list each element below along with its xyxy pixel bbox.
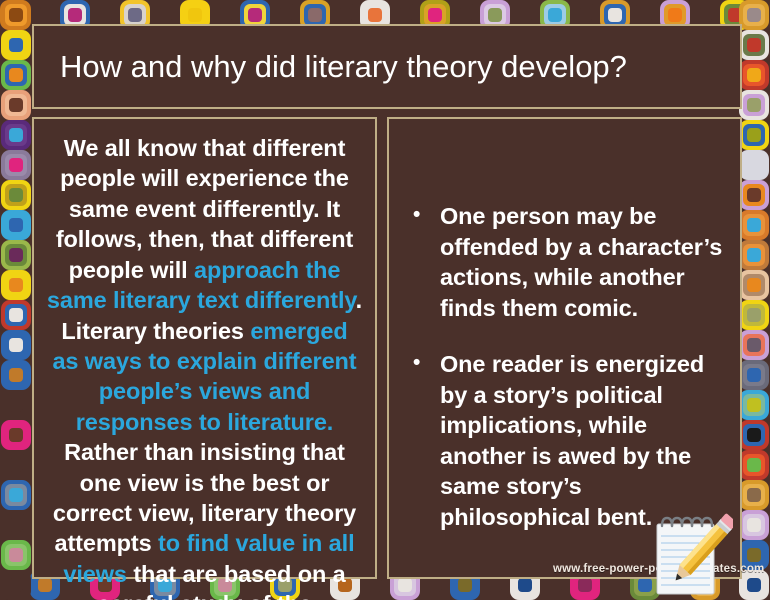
decorative-tile-core bbox=[608, 578, 622, 592]
decorative-tile-core bbox=[548, 8, 562, 22]
decorative-tile bbox=[739, 300, 769, 330]
decorative-tile-core bbox=[9, 458, 23, 472]
decorative-tile-core bbox=[9, 188, 23, 202]
decorative-tile bbox=[739, 90, 769, 120]
decorative-tile bbox=[739, 360, 769, 390]
decorative-tile bbox=[1, 300, 31, 330]
decorative-tile-core bbox=[9, 38, 23, 52]
decorative-tile bbox=[739, 450, 769, 480]
decorative-tile bbox=[1, 360, 31, 390]
decorative-tile bbox=[1, 540, 31, 570]
list-item-label: One reader is energized by a story’s pol… bbox=[440, 351, 704, 530]
decorative-tile bbox=[1, 510, 31, 540]
left-content-panel: We all know that different people will e… bbox=[32, 117, 377, 579]
decorative-tile bbox=[1, 180, 31, 210]
title-panel: How and why did literary theory develop? bbox=[32, 24, 742, 109]
decorative-tile-core bbox=[9, 248, 23, 262]
decorative-tile-core bbox=[518, 578, 532, 592]
decorative-tile bbox=[739, 480, 769, 510]
decorative-tile-core bbox=[38, 8, 52, 22]
decorative-tile bbox=[1, 330, 31, 360]
decorative-tile-core bbox=[747, 428, 761, 442]
decorative-tile-core bbox=[747, 188, 761, 202]
decorative-tile bbox=[1, 480, 31, 510]
decorative-tile-core bbox=[747, 458, 761, 472]
decorative-tile-core bbox=[747, 248, 761, 262]
decorative-tile-core bbox=[638, 8, 652, 22]
decorative-tile-core bbox=[278, 8, 292, 22]
decorative-tile-core bbox=[488, 578, 502, 592]
decorative-tile bbox=[1, 570, 31, 600]
decorative-tile-core bbox=[747, 68, 761, 82]
decorative-tile-core bbox=[608, 8, 622, 22]
decorative-tile-core bbox=[398, 8, 412, 22]
decorative-tile-core bbox=[548, 578, 562, 592]
notepad-pencil-icon bbox=[651, 512, 733, 600]
decorative-tile bbox=[739, 240, 769, 270]
decorative-tile bbox=[1, 0, 31, 30]
bullet-icon: • bbox=[413, 349, 420, 376]
decorative-tile-core bbox=[368, 8, 382, 22]
decorative-tile-core bbox=[747, 518, 761, 532]
decorative-tile bbox=[739, 120, 769, 150]
decorative-tile-core bbox=[9, 578, 23, 592]
decorative-tile-core bbox=[458, 578, 472, 592]
decorative-tile bbox=[1, 270, 31, 300]
decorative-tile-core bbox=[428, 8, 442, 22]
decorative-tile-core bbox=[9, 488, 23, 502]
decorative-tile bbox=[1, 240, 31, 270]
decorative-tile bbox=[1, 90, 31, 120]
decorative-tile-core bbox=[398, 578, 412, 592]
decorative-tile-core bbox=[698, 8, 712, 22]
decorative-tile bbox=[739, 270, 769, 300]
decorative-tile-core bbox=[9, 548, 23, 562]
decorative-tile-core bbox=[747, 338, 761, 352]
decorative-tile-core bbox=[158, 8, 172, 22]
decorative-tile-core bbox=[747, 38, 761, 52]
decorative-tile-core bbox=[188, 8, 202, 22]
decorative-tile bbox=[739, 420, 769, 450]
decorative-tile-core bbox=[747, 158, 761, 172]
decorative-tile-core bbox=[428, 578, 442, 592]
decorative-tile-core bbox=[747, 308, 761, 322]
bullet-icon: • bbox=[413, 201, 420, 228]
decorative-tile-core bbox=[747, 128, 761, 142]
decorative-tile bbox=[739, 0, 769, 30]
decorative-tile-core bbox=[747, 578, 761, 592]
list-item: •One person may be offended by a charact… bbox=[399, 201, 730, 323]
decorative-tile bbox=[1, 390, 31, 420]
border-strip-right bbox=[738, 0, 770, 600]
decorative-tile-core bbox=[638, 578, 652, 592]
decorative-tile-core bbox=[747, 488, 761, 502]
decorative-tile-core bbox=[218, 8, 232, 22]
decorative-tile-core bbox=[9, 308, 23, 322]
decorative-tile-core bbox=[9, 98, 23, 112]
decorative-tile-core bbox=[368, 578, 382, 592]
decorative-tile bbox=[1, 150, 31, 180]
body-text-run: that are based on a careful study of the… bbox=[97, 561, 346, 600]
decorative-tile-core bbox=[128, 8, 142, 22]
decorative-tile-core bbox=[9, 428, 23, 442]
decorative-tile-core bbox=[9, 278, 23, 292]
decorative-tile-core bbox=[9, 8, 23, 22]
list-item: •One reader is energized by a story’s po… bbox=[399, 349, 730, 532]
decorative-tile-core bbox=[308, 8, 322, 22]
decorative-tile-core bbox=[488, 8, 502, 22]
page-title: How and why did literary theory develop? bbox=[34, 49, 627, 85]
decorative-tile-core bbox=[458, 8, 472, 22]
decorative-tile-core bbox=[668, 8, 682, 22]
decorative-tile-core bbox=[338, 8, 352, 22]
decorative-tile-core bbox=[747, 8, 761, 22]
decorative-tile-core bbox=[518, 8, 532, 22]
decorative-tile bbox=[739, 330, 769, 360]
border-strip-left bbox=[0, 0, 32, 600]
decorative-tile-core bbox=[578, 578, 592, 592]
decorative-tile bbox=[1, 30, 31, 60]
decorative-tile-core bbox=[68, 8, 82, 22]
decorative-tile-core bbox=[9, 158, 23, 172]
decorative-tile-core bbox=[747, 368, 761, 382]
decorative-tile bbox=[739, 210, 769, 240]
decorative-tile-core bbox=[747, 278, 761, 292]
decorative-tile bbox=[739, 510, 769, 540]
right-content-panel: •One person may be offended by a charact… bbox=[387, 117, 742, 579]
decorative-tile-core bbox=[9, 368, 23, 382]
decorative-tile-core bbox=[9, 338, 23, 352]
decorative-tile-core bbox=[747, 548, 761, 562]
decorative-tile bbox=[1, 420, 31, 450]
decorative-tile bbox=[739, 180, 769, 210]
decorative-tile-core bbox=[747, 398, 761, 412]
decorative-tile-core bbox=[9, 518, 23, 532]
decorative-tile-core bbox=[98, 8, 112, 22]
decorative-tile-core bbox=[747, 98, 761, 112]
decorative-tile-core bbox=[747, 218, 761, 232]
decorative-tile bbox=[1, 120, 31, 150]
presentation-slide: How and why did literary theory develop?… bbox=[0, 0, 770, 600]
decorative-tile bbox=[739, 150, 769, 180]
decorative-tile bbox=[1, 60, 31, 90]
decorative-tile-core bbox=[9, 128, 23, 142]
decorative-tile-core bbox=[578, 8, 592, 22]
decorative-tile-core bbox=[248, 8, 262, 22]
decorative-tile-core bbox=[9, 218, 23, 232]
decorative-tile bbox=[1, 210, 31, 240]
decorative-tile bbox=[1, 450, 31, 480]
decorative-tile bbox=[739, 30, 769, 60]
bullet-list: •One person may be offended by a charact… bbox=[399, 133, 730, 532]
decorative-tile bbox=[739, 390, 769, 420]
list-item-label: One person may be offended by a characte… bbox=[440, 203, 722, 321]
decorative-tile bbox=[739, 60, 769, 90]
left-body-text: We all know that different people will e… bbox=[46, 133, 363, 600]
decorative-tile-core bbox=[9, 398, 23, 412]
decorative-tile-core bbox=[9, 68, 23, 82]
